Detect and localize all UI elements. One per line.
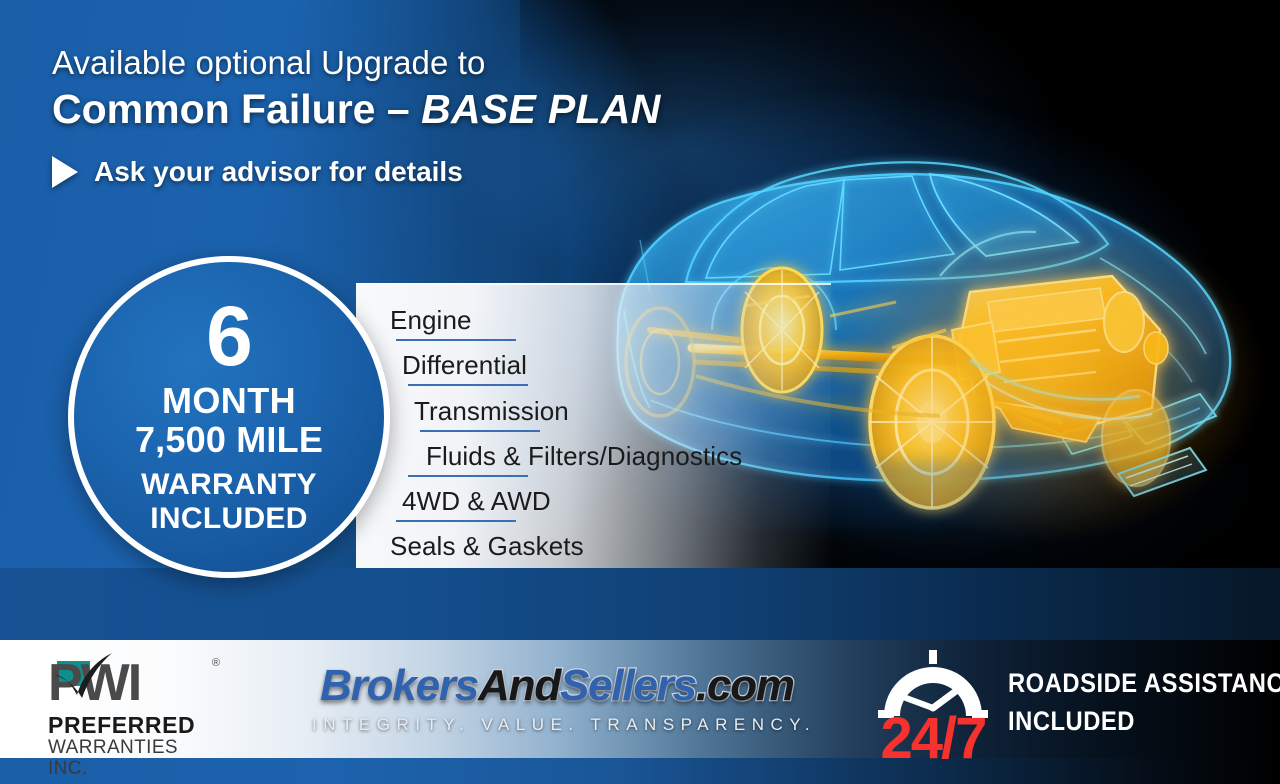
badge-included-label: INCLUDED bbox=[150, 502, 307, 536]
mid-blue-band bbox=[0, 568, 1280, 640]
coverage-item: 4WD & AWD bbox=[356, 474, 831, 519]
promo-banner: Available optional Upgrade to Common Fai… bbox=[0, 0, 1280, 784]
brokers-part-2: And bbox=[478, 661, 560, 710]
pwi-checkmark-icon bbox=[50, 651, 116, 699]
cta-label: Ask your advisor for details bbox=[94, 156, 463, 188]
coverage-list: Engine Differential Transmission Fluids … bbox=[356, 285, 831, 570]
badge-term-number: 6 bbox=[206, 297, 252, 376]
warranty-badge: 6 MONTH 7,500 MILE WARRANTY INCLUDED bbox=[68, 256, 390, 578]
roadside-line-1: ROADSIDE ASSISTANCE bbox=[1008, 664, 1280, 702]
badge-warranty-label: WARRANTY bbox=[141, 468, 317, 502]
roadside-line-2: INCLUDED bbox=[1008, 702, 1280, 740]
brokers-part-4: .com bbox=[696, 661, 794, 710]
hours-label: 24/7 bbox=[872, 710, 994, 768]
coverage-item: Engine bbox=[356, 293, 831, 338]
coverage-label: Fluids & Filters/Diagnostics bbox=[426, 441, 742, 472]
pwi-wordmark: PWI ® bbox=[48, 655, 218, 711]
headline-line-2: Common Failure – BASE PLAN bbox=[52, 86, 812, 134]
brokers-part-1: Brokers bbox=[320, 661, 478, 710]
headline-prefix: Common Failure – bbox=[52, 86, 421, 132]
coverage-item: Seals & Gaskets bbox=[356, 519, 831, 564]
roadside-text: ROADSIDE ASSISTANCE INCLUDED bbox=[1008, 664, 1280, 747]
coverage-panel: Engine Differential Transmission Fluids … bbox=[356, 283, 831, 568]
badge-mileage: 7,500 MILE bbox=[135, 421, 323, 460]
brokers-tagline: INTEGRITY. VALUE. TRANSPARENCY. bbox=[312, 715, 802, 735]
coverage-label: Seals & Gaskets bbox=[390, 531, 584, 562]
coverage-item: Differential bbox=[356, 338, 831, 383]
coverage-label: Transmission bbox=[414, 396, 569, 427]
headline-plan-name: BASE PLAN bbox=[421, 86, 661, 132]
brokers-part-3: Sellers bbox=[560, 661, 696, 710]
pwi-tagline-2: WARRANTIES INC. bbox=[48, 738, 218, 780]
coverage-label: Differential bbox=[402, 350, 527, 381]
headline-line-1: Available optional Upgrade to bbox=[52, 44, 812, 82]
badge-term-unit: MONTH bbox=[162, 382, 296, 421]
pwi-logo: PWI ® PREFERRED WARRANTIES INC. bbox=[48, 655, 218, 760]
clock-block: 24/7 bbox=[872, 646, 994, 764]
pwi-registered-mark: ® bbox=[212, 657, 220, 669]
headline-block: Available optional Upgrade to Common Fai… bbox=[52, 44, 812, 188]
pwi-tagline-1: PREFERRED bbox=[48, 713, 218, 738]
coverage-label: Engine bbox=[390, 305, 472, 336]
roadside-assistance-block: 24/7 ROADSIDE ASSISTANCE INCLUDED bbox=[872, 640, 1272, 770]
play-triangle-icon bbox=[52, 156, 78, 188]
cta-row[interactable]: Ask your advisor for details bbox=[52, 156, 812, 188]
coverage-item: Fluids & Filters/Diagnostics bbox=[356, 429, 831, 474]
brokers-and-sellers-logo[interactable]: BrokersAndSellers.com INTEGRITY. VALUE. … bbox=[312, 664, 802, 754]
coverage-item: Transmission bbox=[356, 383, 831, 428]
coverage-label: 4WD & AWD bbox=[402, 486, 551, 517]
brokers-wordmark: BrokersAndSellers.com bbox=[312, 664, 802, 708]
